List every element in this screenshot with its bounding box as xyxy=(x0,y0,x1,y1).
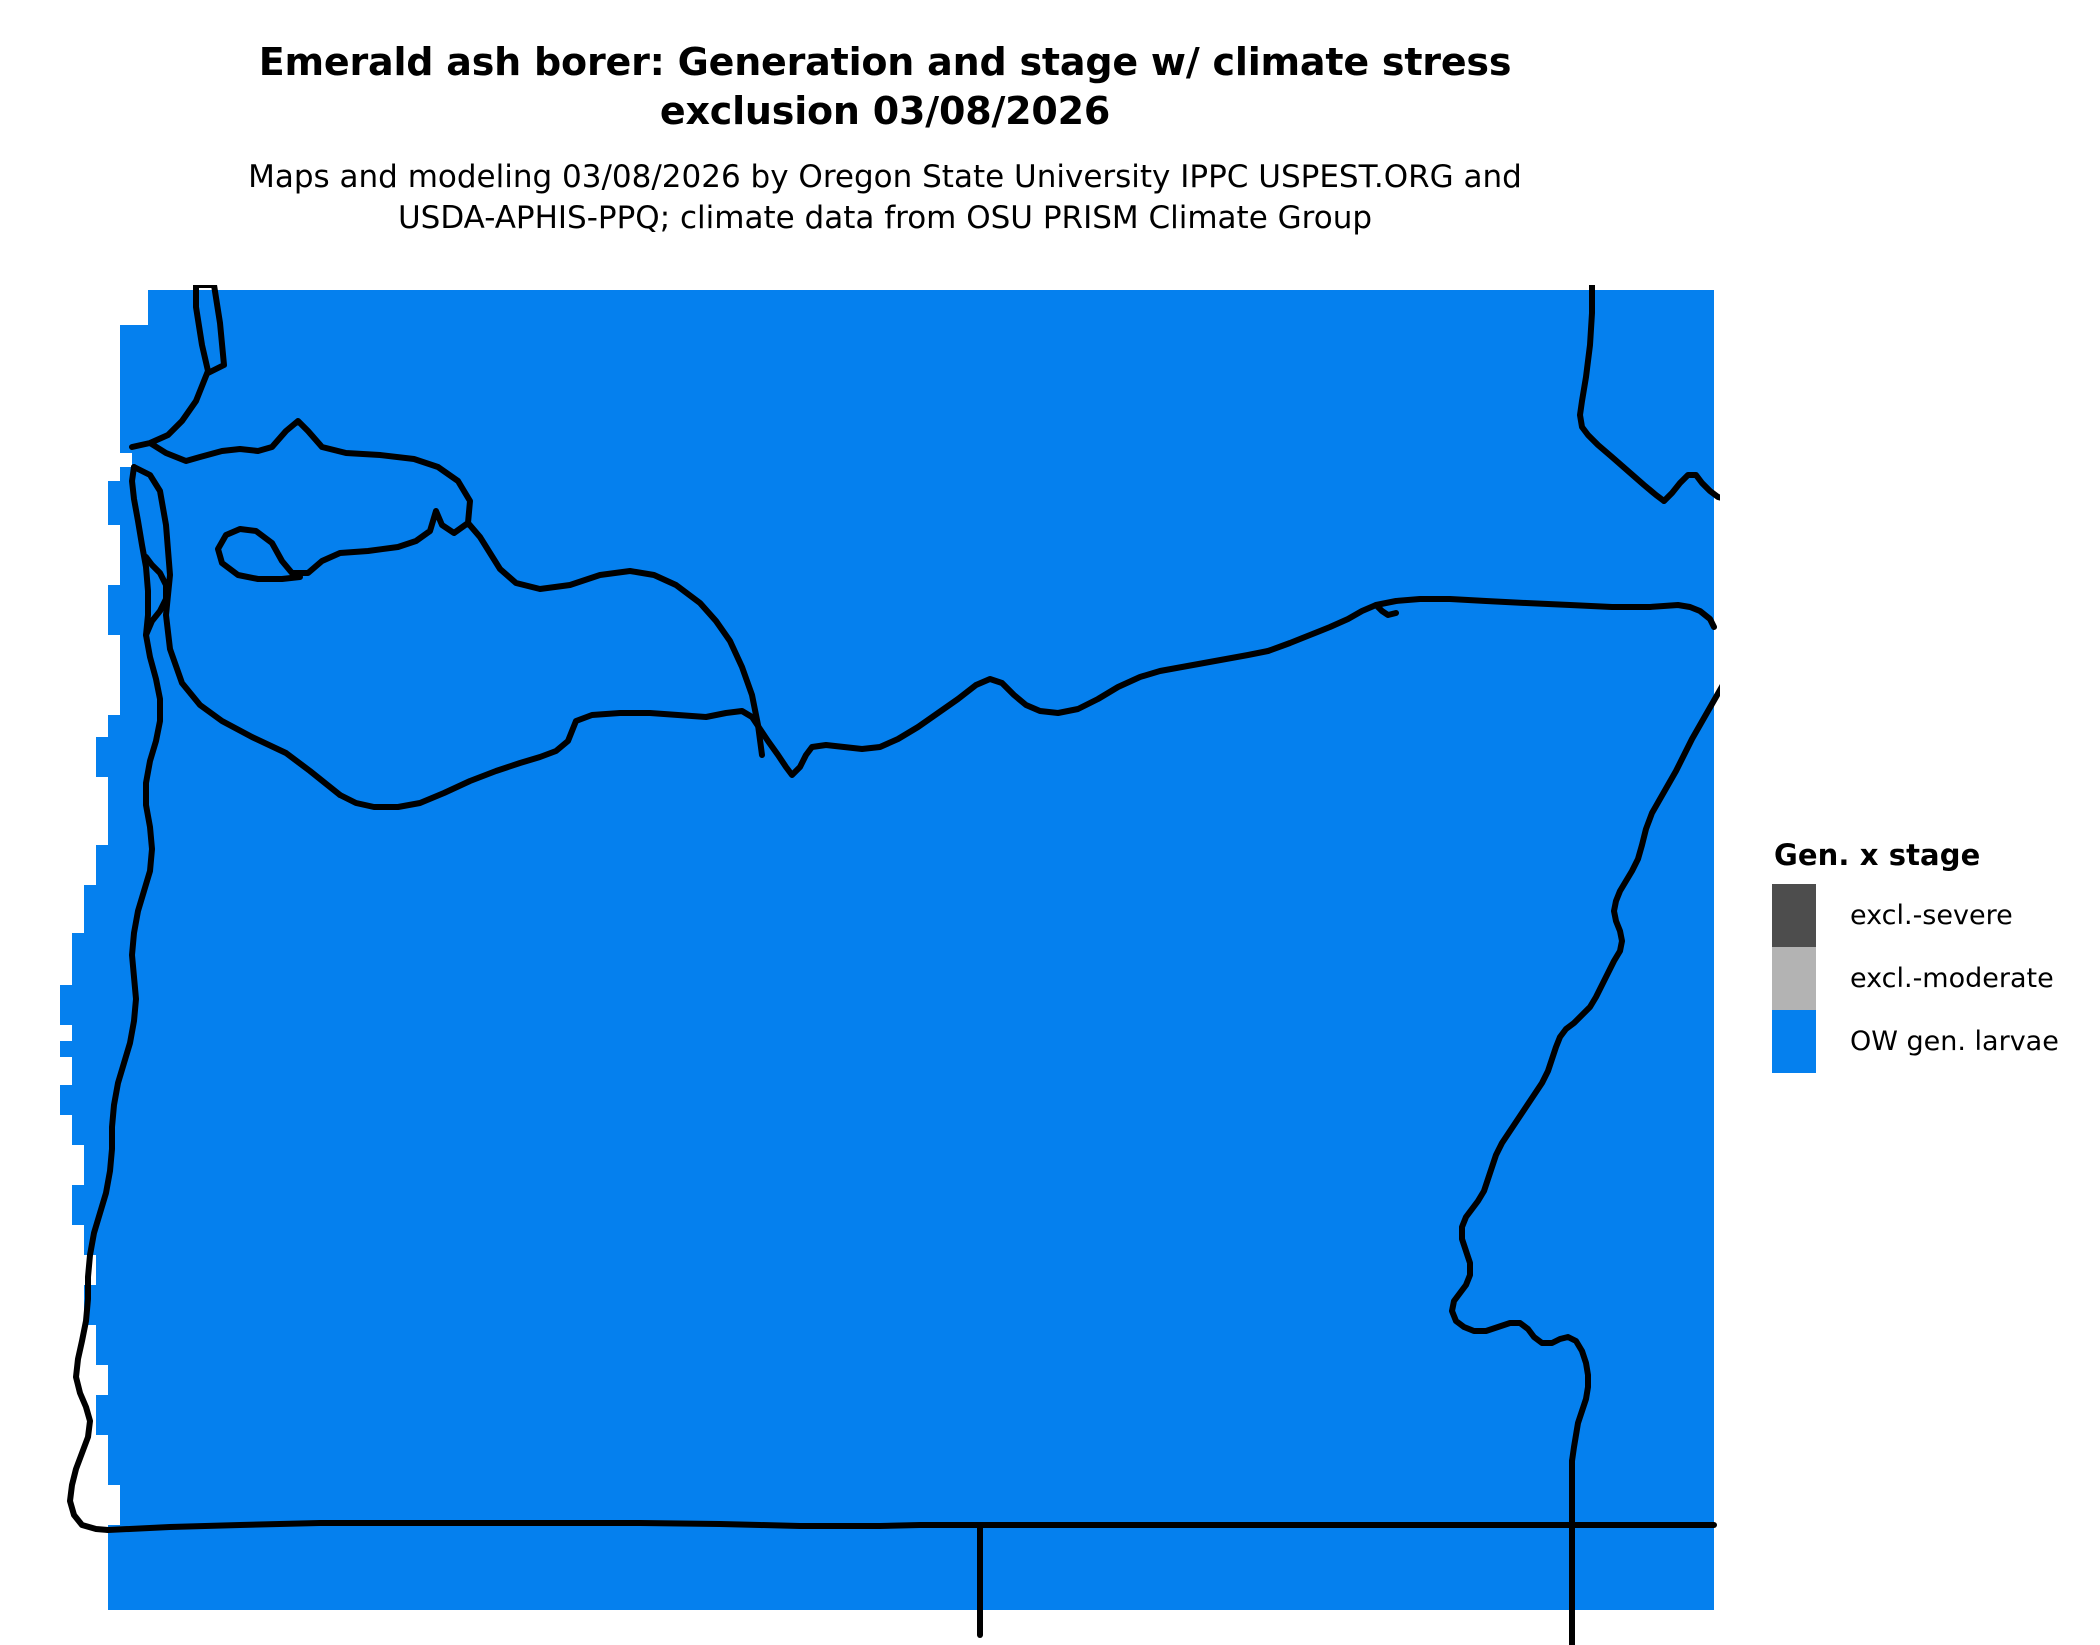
page-title: Emerald ash borer: Generation and stage … xyxy=(105,38,1665,135)
map-legend: Gen. x stage excl.-severe excl.-moderate… xyxy=(1772,838,2092,1073)
legend-item-ow-gen-larvae[interactable]: OW gen. larvae xyxy=(1772,1010,2092,1073)
legend-title: Gen. x stage xyxy=(1774,838,2092,872)
legend-swatch-excl-moderate xyxy=(1772,947,1816,1010)
legend-item-excl-moderate[interactable]: excl.-moderate xyxy=(1772,947,2092,1010)
page-title-line-2: exclusion 03/08/2026 xyxy=(660,89,1110,133)
legend-label-excl-moderate: excl.-moderate xyxy=(1850,965,2054,992)
map-canvas xyxy=(0,285,1720,1645)
legend-swatch-excl-severe xyxy=(1772,884,1816,947)
oregon-raster-map xyxy=(0,285,1720,1645)
map-header: Emerald ash borer: Generation and stage … xyxy=(0,0,1770,238)
legend-label-ow-gen-larvae: OW gen. larvae xyxy=(1850,1028,2059,1055)
page-title-line-1: Emerald ash borer: Generation and stage … xyxy=(259,40,1512,84)
legend-swatch-ow-gen-larvae xyxy=(1772,1010,1816,1073)
raster-fill-owgen-larvae xyxy=(60,290,1714,1610)
page-subtitle-line-1: Maps and modeling 03/08/2026 by Oregon S… xyxy=(248,159,1522,195)
legend-item-excl-severe[interactable]: excl.-severe xyxy=(1772,884,2092,947)
page-subtitle: Maps and modeling 03/08/2026 by Oregon S… xyxy=(125,157,1645,238)
legend-label-excl-severe: excl.-severe xyxy=(1850,902,2013,929)
page-subtitle-line-2: USDA-APHIS-PPQ; climate data from OSU PR… xyxy=(398,200,1372,236)
legend-items: excl.-severe excl.-moderate OW gen. larv… xyxy=(1772,884,2092,1073)
